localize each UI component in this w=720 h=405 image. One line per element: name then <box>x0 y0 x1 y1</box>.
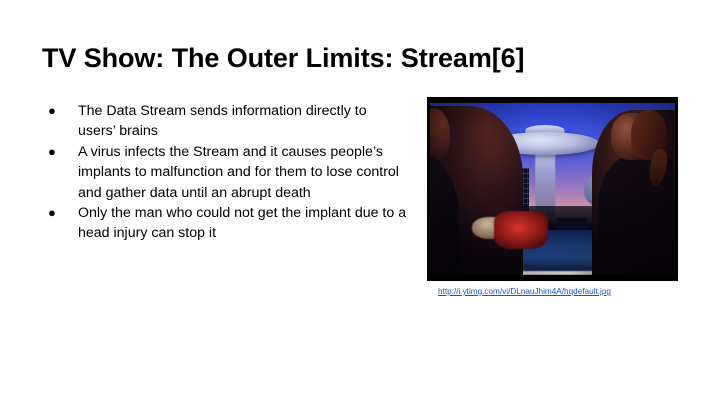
bullet-marker-icon: ● <box>48 101 56 121</box>
man-shoulder <box>430 153 459 275</box>
figure-man-silhouette <box>430 106 523 275</box>
bullet-marker-icon: ● <box>48 142 56 162</box>
presentation-slide: TV Show: The Outer Limits: Stream[6] ● T… <box>0 0 720 405</box>
page-title: TV Show: The Outer Limits: Stream[6] <box>42 42 662 74</box>
image-source-link[interactable]: http://i.ytimg.com/vi/DLnauJhim4A/hqdefa… <box>438 286 611 297</box>
image-content <box>430 103 675 275</box>
list-item: ● The Data Stream sends information dire… <box>42 101 407 142</box>
bullet-marker-icon: ● <box>48 203 56 223</box>
bullet-list: ● The Data Stream sends information dire… <box>42 101 407 244</box>
slide-image <box>427 97 678 281</box>
list-item: ● Only the man who could not get the imp… <box>42 203 407 244</box>
list-item-text: A virus infects the Stream and it causes… <box>78 144 399 201</box>
list-item: ● A virus infects the Stream and it caus… <box>42 142 407 203</box>
man-head <box>430 108 450 160</box>
list-item-text: The Data Stream sends information direct… <box>78 103 367 139</box>
list-item-text: Only the man who could not get the impla… <box>78 205 406 241</box>
figure-woman-silhouette <box>592 110 675 275</box>
red-glowing-object <box>494 211 548 249</box>
